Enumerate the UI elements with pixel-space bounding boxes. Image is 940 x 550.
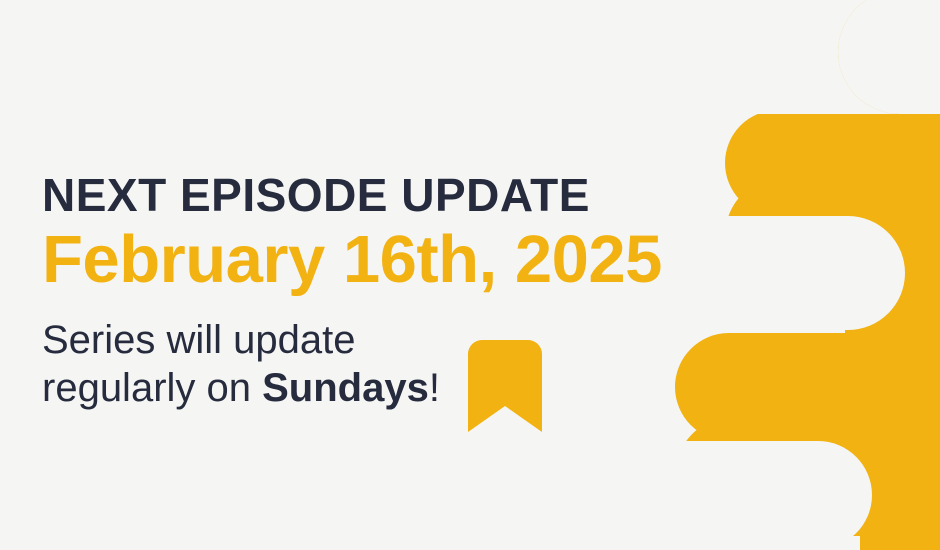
episode-update-banner: NEXT EPISODE UPDATE February 16th, 2025 … bbox=[0, 0, 940, 550]
page-title: NEXT EPISODE UPDATE bbox=[42, 168, 662, 222]
schedule-note-line2-suffix: ! bbox=[429, 366, 440, 410]
schedule-note-emphasis: Sundays bbox=[262, 366, 429, 410]
episode-date: February 16th, 2025 bbox=[42, 222, 662, 298]
wave-blob-silhouette bbox=[675, 0, 940, 536]
wave-blob-final bbox=[650, 0, 940, 550]
bookmark-icon bbox=[468, 340, 542, 432]
wave-blob-main bbox=[846, 0, 940, 550]
schedule-note: Series will update regularly on Sundays! bbox=[42, 316, 662, 412]
schedule-note-line2-prefix: regularly on bbox=[42, 366, 262, 410]
banner-text-block: NEXT EPISODE UPDATE February 16th, 2025 … bbox=[42, 168, 662, 412]
schedule-note-line1: Series will update bbox=[42, 318, 356, 362]
